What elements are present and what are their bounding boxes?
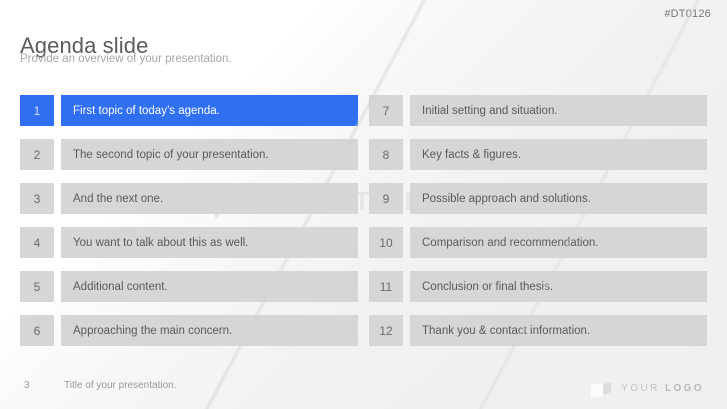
- agenda-item-label: Key facts & figures.: [410, 139, 707, 170]
- agenda-item-label: Approaching the main concern.: [61, 315, 358, 346]
- logo-text-bold: LOGO: [665, 383, 704, 394]
- document-id: #DT0126: [664, 8, 711, 20]
- agenda-item-label: Thank you & contact information.: [410, 315, 707, 346]
- agenda-item-number: 4: [20, 227, 54, 258]
- agenda-item-label: Additional content.: [61, 271, 358, 302]
- agenda-item-number: 12: [369, 315, 403, 346]
- agenda-item-12[interactable]: 12 Thank you & contact information.: [369, 315, 707, 346]
- agenda-item-number: 1: [20, 95, 54, 126]
- agenda-item-number: 11: [369, 271, 403, 302]
- agenda-item-number: 9: [369, 183, 403, 214]
- logo-text: YOUR LOGO: [621, 383, 704, 394]
- agenda-item-number: 7: [369, 95, 403, 126]
- agenda-item-7[interactable]: 7 Initial setting and situation.: [369, 95, 707, 126]
- agenda-item-8[interactable]: 8 Key facts & figures.: [369, 139, 707, 170]
- agenda-item-label: Possible approach and solutions.: [410, 183, 707, 214]
- slide-footer: 3 Title of your presentation. YOUR LOGO: [0, 367, 727, 409]
- agenda-item-5[interactable]: 5 Additional content.: [20, 271, 358, 302]
- agenda-item-number: 8: [369, 139, 403, 170]
- logo: YOUR LOGO: [590, 377, 704, 399]
- agenda-item-9[interactable]: 9 Possible approach and solutions.: [369, 183, 707, 214]
- agenda-item-number: 5: [20, 271, 54, 302]
- agenda-item-10[interactable]: 10 Comparison and recommendation.: [369, 227, 707, 258]
- agenda-item-label: Comparison and recommendation.: [410, 227, 707, 258]
- logo-text-light: YOUR: [621, 383, 665, 394]
- agenda-item-2[interactable]: 2 The second topic of your presentation.: [20, 139, 358, 170]
- agenda-item-6[interactable]: 6 Approaching the main concern.: [20, 315, 358, 346]
- agenda-item-label: First topic of today’s agenda.: [61, 95, 358, 126]
- agenda-item-1[interactable]: 1 First topic of today’s agenda.: [20, 95, 358, 126]
- footer-title: Title of your presentation.: [64, 380, 176, 391]
- agenda-column-right: 7 Initial setting and situation. 8 Key f…: [369, 95, 707, 359]
- slide-page-number: 3: [24, 380, 30, 391]
- agenda-item-label: Initial setting and situation.: [410, 95, 707, 126]
- agenda-item-3[interactable]: 3 And the next one.: [20, 183, 358, 214]
- agenda-item-number: 6: [20, 315, 54, 346]
- cube-logo-icon: [590, 377, 612, 399]
- agenda-column-left: 1 First topic of today’s agenda. 2 The s…: [20, 95, 358, 359]
- agenda-item-label: You want to talk about this as well.: [61, 227, 358, 258]
- agenda-item-number: 3: [20, 183, 54, 214]
- agenda-item-4[interactable]: 4 You want to talk about this as well.: [20, 227, 358, 258]
- agenda-slide: PRESENTATIONLOAD #DT0126 Agenda slide Pr…: [0, 0, 727, 409]
- agenda-item-label: And the next one.: [61, 183, 358, 214]
- agenda-item-11[interactable]: 11 Conclusion or final thesis.: [369, 271, 707, 302]
- agenda-item-number: 10: [369, 227, 403, 258]
- agenda-item-number: 2: [20, 139, 54, 170]
- agenda-item-label: Conclusion or final thesis.: [410, 271, 707, 302]
- page-subtitle: Provide an overview of your presentation…: [20, 53, 232, 65]
- agenda-item-label: The second topic of your presentation.: [61, 139, 358, 170]
